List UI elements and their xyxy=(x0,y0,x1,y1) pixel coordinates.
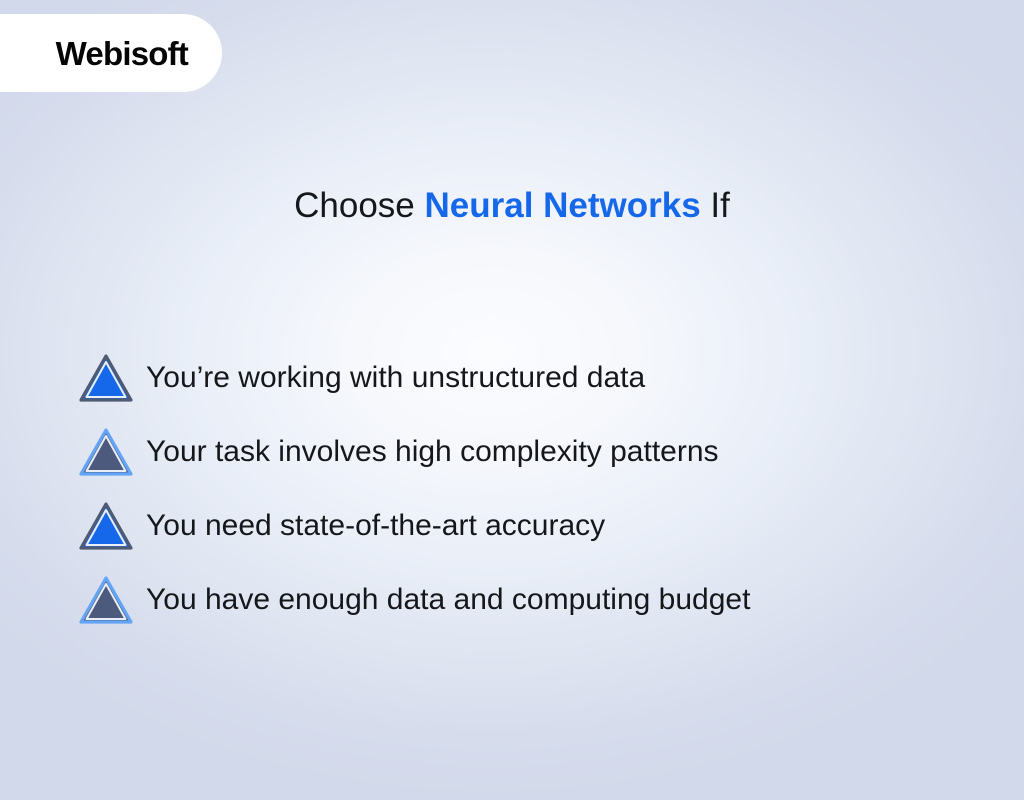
list-item: You have enough data and computing budge… xyxy=(78,570,978,630)
triangle-icon xyxy=(78,500,136,552)
bullet-list: You’re working with unstructured data Yo… xyxy=(78,348,978,630)
triangle-icon xyxy=(78,574,136,626)
triangle-icon xyxy=(78,352,136,404)
list-item: You’re working with unstructured data xyxy=(78,348,978,408)
page-title: Choose Neural Networks If xyxy=(0,185,1024,227)
page-title-prefix: Choose xyxy=(294,186,424,225)
list-item-label: You have enough data and computing budge… xyxy=(146,581,750,619)
slide-canvas: Webisoft Choose Neural Networks If You’r… xyxy=(0,0,1024,800)
list-item-label: Your task involves high complexity patte… xyxy=(146,433,719,471)
list-item-label: You’re working with unstructured data xyxy=(146,359,645,397)
brand-logo-text: Webisoft xyxy=(56,37,188,70)
page-title-suffix: If xyxy=(701,186,730,225)
list-item: Your task involves high complexity patte… xyxy=(78,422,978,482)
triangle-icon xyxy=(78,426,136,478)
page-title-accent: Neural Networks xyxy=(424,186,700,225)
list-item: You need state-of-the-art accuracy xyxy=(78,496,978,556)
list-item-label: You need state-of-the-art accuracy xyxy=(146,507,605,545)
brand-logo: Webisoft xyxy=(0,14,222,92)
